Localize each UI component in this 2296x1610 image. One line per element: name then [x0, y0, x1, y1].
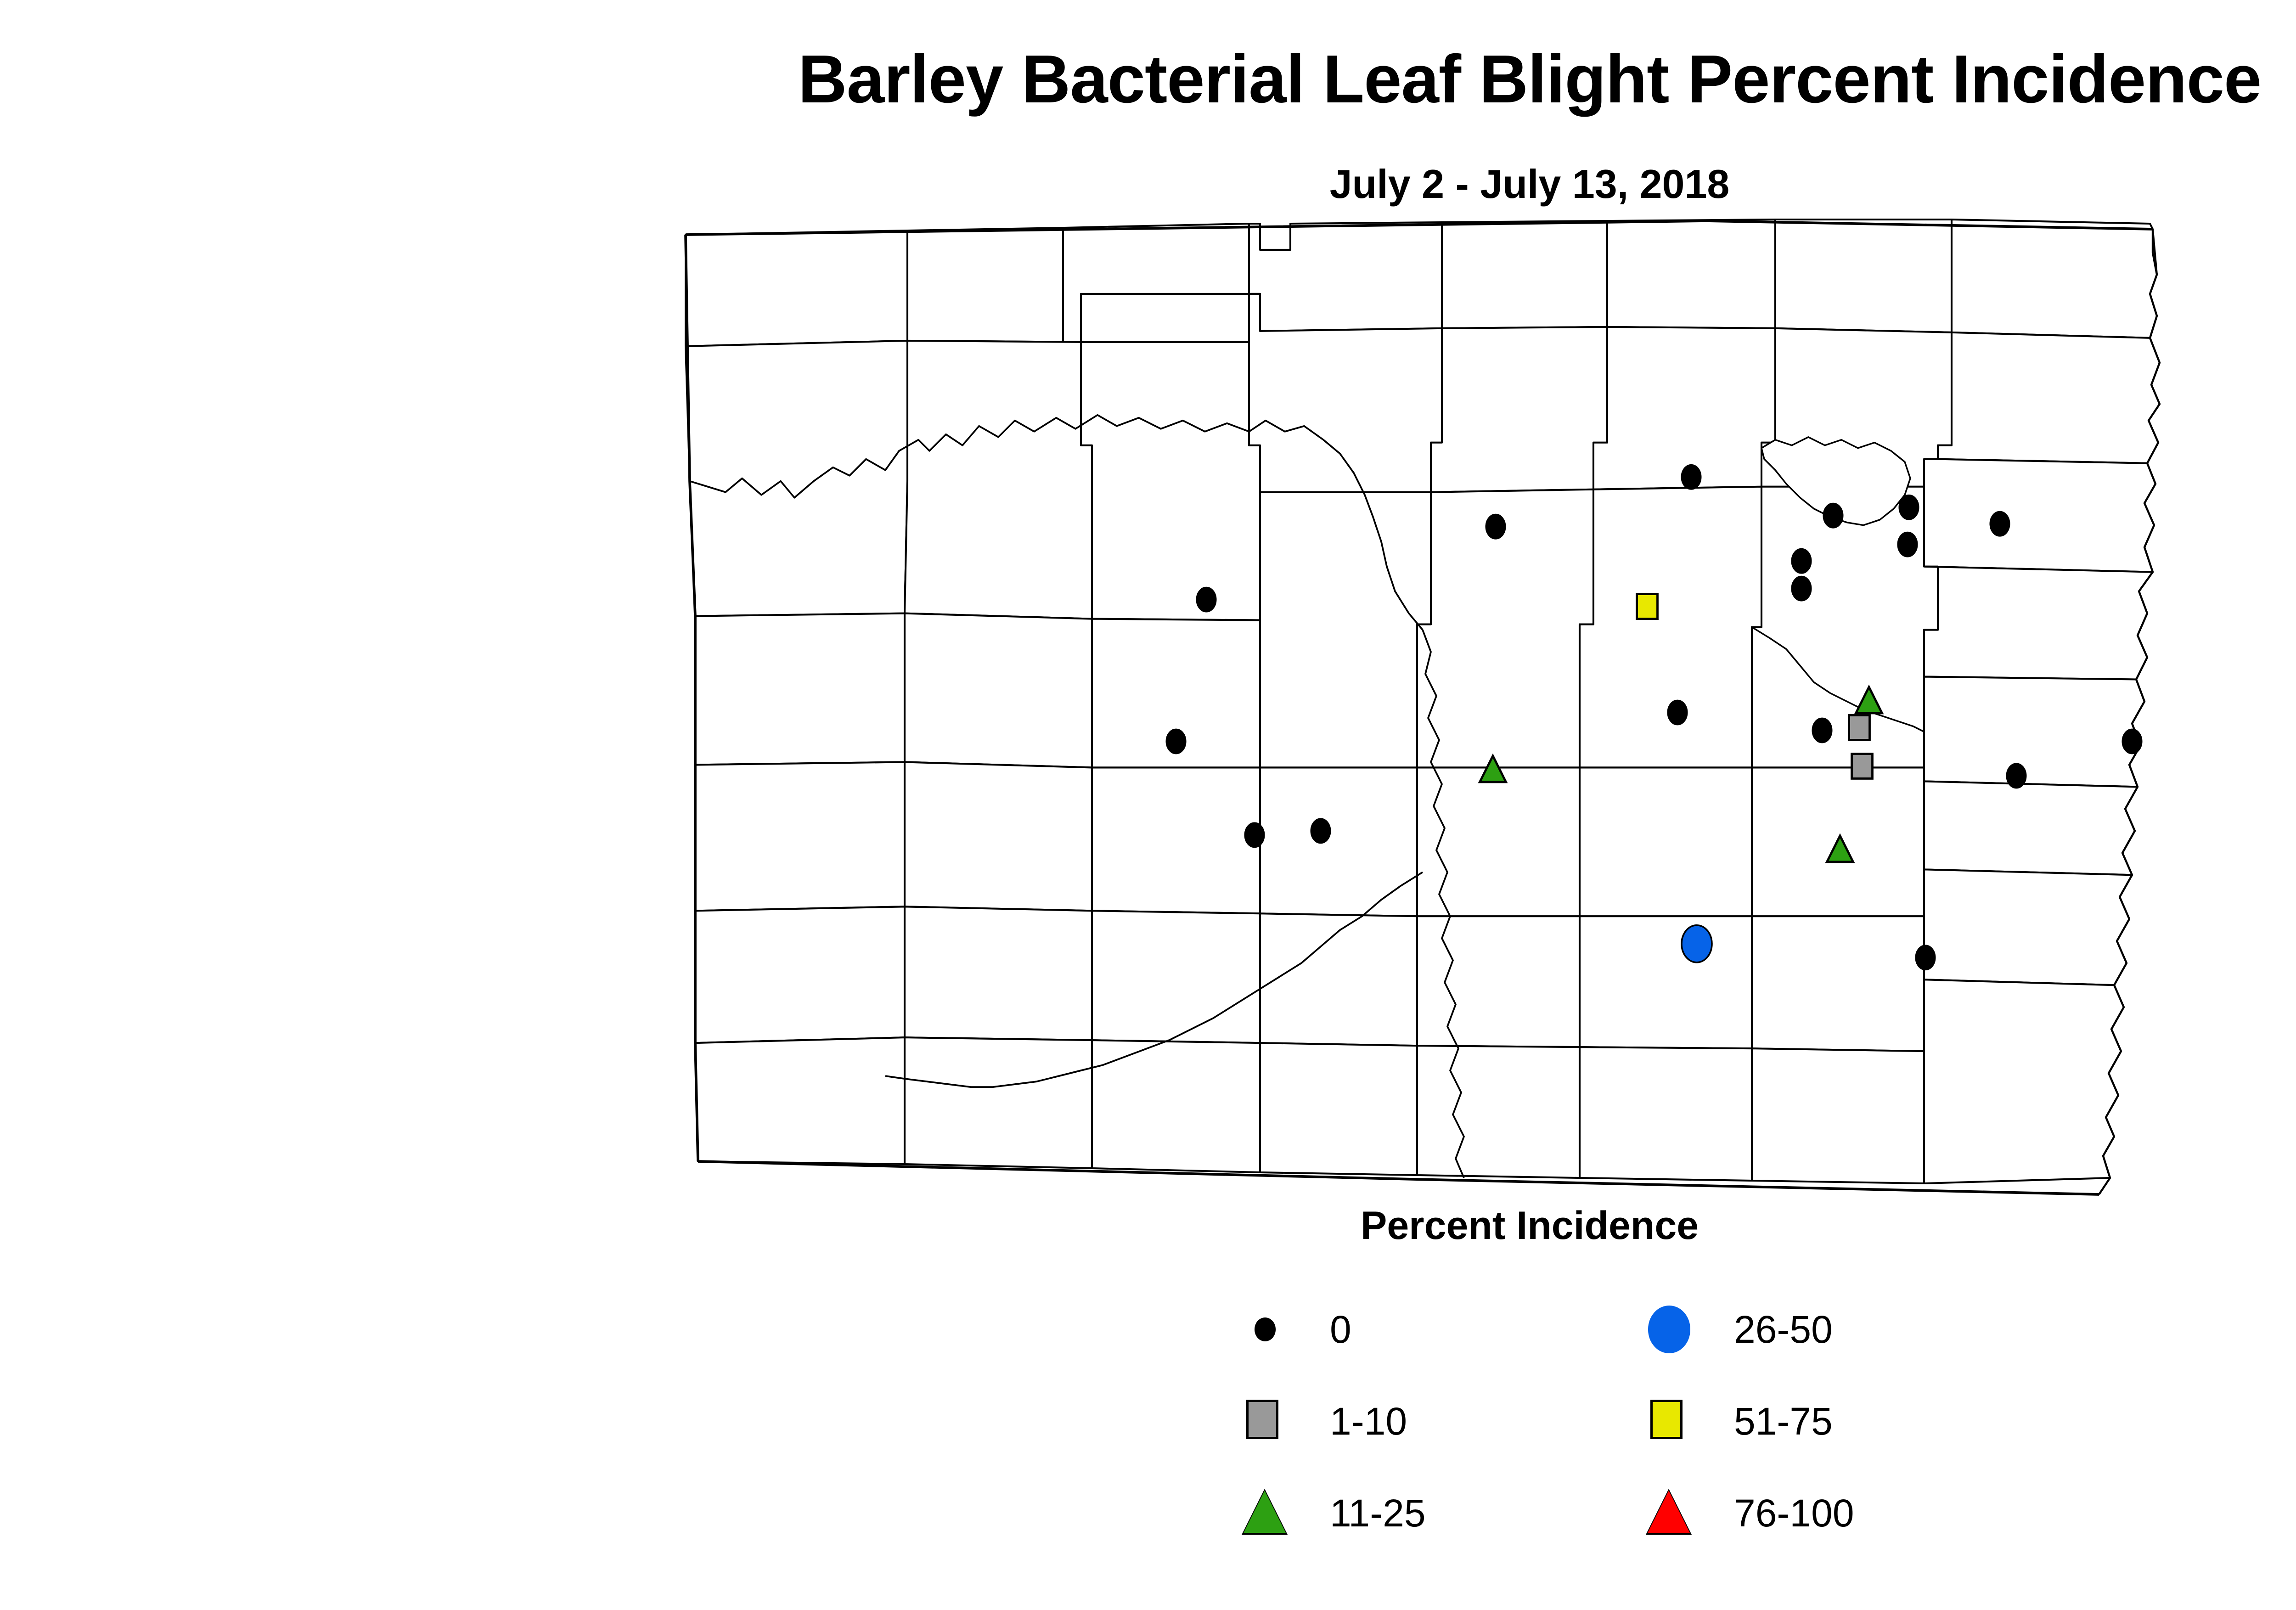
- county-walsh: [1938, 332, 2160, 463]
- legend: 01-1011-2526-5051-7576-100: [1240, 1304, 2089, 1580]
- page-title: Barley Bacterial Leaf Blight Percent Inc…: [0, 40, 2296, 118]
- county-grand-forks: [1924, 459, 2155, 572]
- map-marker-0: [1915, 945, 1935, 970]
- county-pierce: [1593, 327, 1775, 490]
- county-traill: [1924, 567, 2153, 680]
- county-lamoure: [1752, 916, 1924, 1051]
- figure-canvas: Barley Bacterial Leaf Blight Percent Inc…: [0, 0, 2296, 1610]
- legend-swatch-triangle: [1644, 1488, 1694, 1538]
- county-burleigh: [1417, 767, 1580, 916]
- county-burke: [907, 228, 1081, 342]
- county-cass: [1924, 677, 2144, 787]
- legend-swatch-circle: [1240, 1304, 1290, 1355]
- legend-square-icon: [1650, 1400, 1683, 1439]
- legend-swatch-circle: [1644, 1304, 1694, 1355]
- legend-item-label: 76-100: [1734, 1494, 1854, 1532]
- county-dunn-n: [905, 614, 1092, 768]
- county-logan: [1580, 916, 1752, 1048]
- north-dakota-county-map: [643, 211, 2296, 1199]
- legend-item-1-10: 1-10: [1240, 1396, 1407, 1447]
- legend-item-76-100: 76-100: [1644, 1488, 1854, 1538]
- county-rolette: [1442, 221, 1607, 328]
- legend-triangle-icon: [1648, 1491, 1690, 1533]
- county-richland: [1924, 869, 2132, 985]
- legend-item-label: 0: [1330, 1310, 1351, 1349]
- legend-item-26-50: 26-50: [1644, 1304, 1833, 1355]
- map-svg: [643, 211, 2296, 1199]
- legend-square-icon: [1246, 1400, 1278, 1439]
- county-cavalier: [1775, 220, 1952, 332]
- map-marker-0: [2006, 763, 2026, 788]
- map-marker-1-10: [1849, 715, 1870, 740]
- map-marker-0: [1897, 532, 1917, 557]
- county-slope-n: [695, 906, 905, 1043]
- map-marker-1-10: [1852, 754, 1873, 778]
- county-burleigh-w: [1260, 767, 1417, 916]
- map-marker-0: [1311, 818, 1330, 843]
- legend-item-51-75: 51-75: [1644, 1396, 1833, 1447]
- county-towner: [1607, 220, 1775, 328]
- county-sargent: [1924, 980, 2124, 1183]
- legend-item-label: 11-25: [1330, 1494, 1426, 1532]
- county-adams: [905, 1037, 1092, 1168]
- map-marker-0: [2122, 729, 2142, 754]
- county-pembina: [1952, 220, 2157, 338]
- county-kidder: [1580, 767, 1752, 916]
- map-marker-0: [1823, 503, 1843, 528]
- county-oliver: [1092, 767, 1260, 913]
- county-sioux: [1417, 1046, 1580, 1178]
- legend-swatch-triangle: [1240, 1488, 1290, 1538]
- county-billings-n: [905, 762, 1092, 911]
- legend-heading: Percent Incidence: [0, 1203, 2296, 1249]
- county-mcintosh: [1580, 1047, 1752, 1181]
- map-marker-0: [1791, 549, 1811, 574]
- county-mckenzie-nw: [695, 614, 905, 765]
- map-marker-0: [1791, 576, 1811, 601]
- county-sioux-w: [1260, 1043, 1417, 1175]
- legend-triangle-icon: [1244, 1491, 1286, 1533]
- county-divide: [686, 231, 907, 346]
- county-williams: [686, 341, 907, 616]
- county-mountrail: [905, 341, 1092, 619]
- legend-item-11-25: 11-25: [1240, 1488, 1426, 1538]
- county-emmons: [1417, 916, 1580, 1047]
- legend-swatch-square: [1240, 1396, 1290, 1447]
- county-bowman: [695, 1037, 905, 1164]
- legend-circle-icon: [1648, 1306, 1690, 1353]
- legend-item-label: 26-50: [1734, 1310, 1833, 1349]
- county-stark-s: [905, 906, 1092, 1040]
- county-boundaries: [686, 220, 2160, 1194]
- legend-item-label: 51-75: [1734, 1402, 1833, 1441]
- map-marker-26-50: [1682, 925, 1712, 963]
- county-mchenry: [1431, 327, 1607, 492]
- map-marker-51-75: [1637, 594, 1658, 619]
- map-marker-0: [1166, 729, 1186, 754]
- map-marker-0: [1244, 822, 1264, 847]
- county-grant-n: [1092, 911, 1260, 1043]
- map-marker-0: [1486, 514, 1505, 539]
- legend-item-label: 1-10: [1330, 1402, 1407, 1441]
- legend-swatch-square: [1644, 1396, 1694, 1447]
- county-golden-valley-n: [695, 762, 905, 911]
- map-marker-0: [1899, 495, 1919, 520]
- map-marker-0: [1196, 587, 1216, 612]
- legend-item-0: 0: [1240, 1304, 1351, 1355]
- map-marker-0: [1990, 512, 2009, 536]
- map-marker-0: [1681, 465, 1701, 490]
- page-subtitle: July 2 - July 13, 2018: [0, 161, 2296, 208]
- county-dickey: [1752, 1048, 1924, 1183]
- map-marker-0: [1812, 718, 1832, 743]
- county-wells: [1580, 487, 1761, 768]
- legend-circle-icon: [1255, 1317, 1276, 1341]
- county-ward-w: [1081, 342, 1260, 620]
- county-mclean: [1260, 492, 1431, 768]
- county-emmons-w: [1260, 913, 1417, 1046]
- map-marker-0: [1667, 700, 1687, 725]
